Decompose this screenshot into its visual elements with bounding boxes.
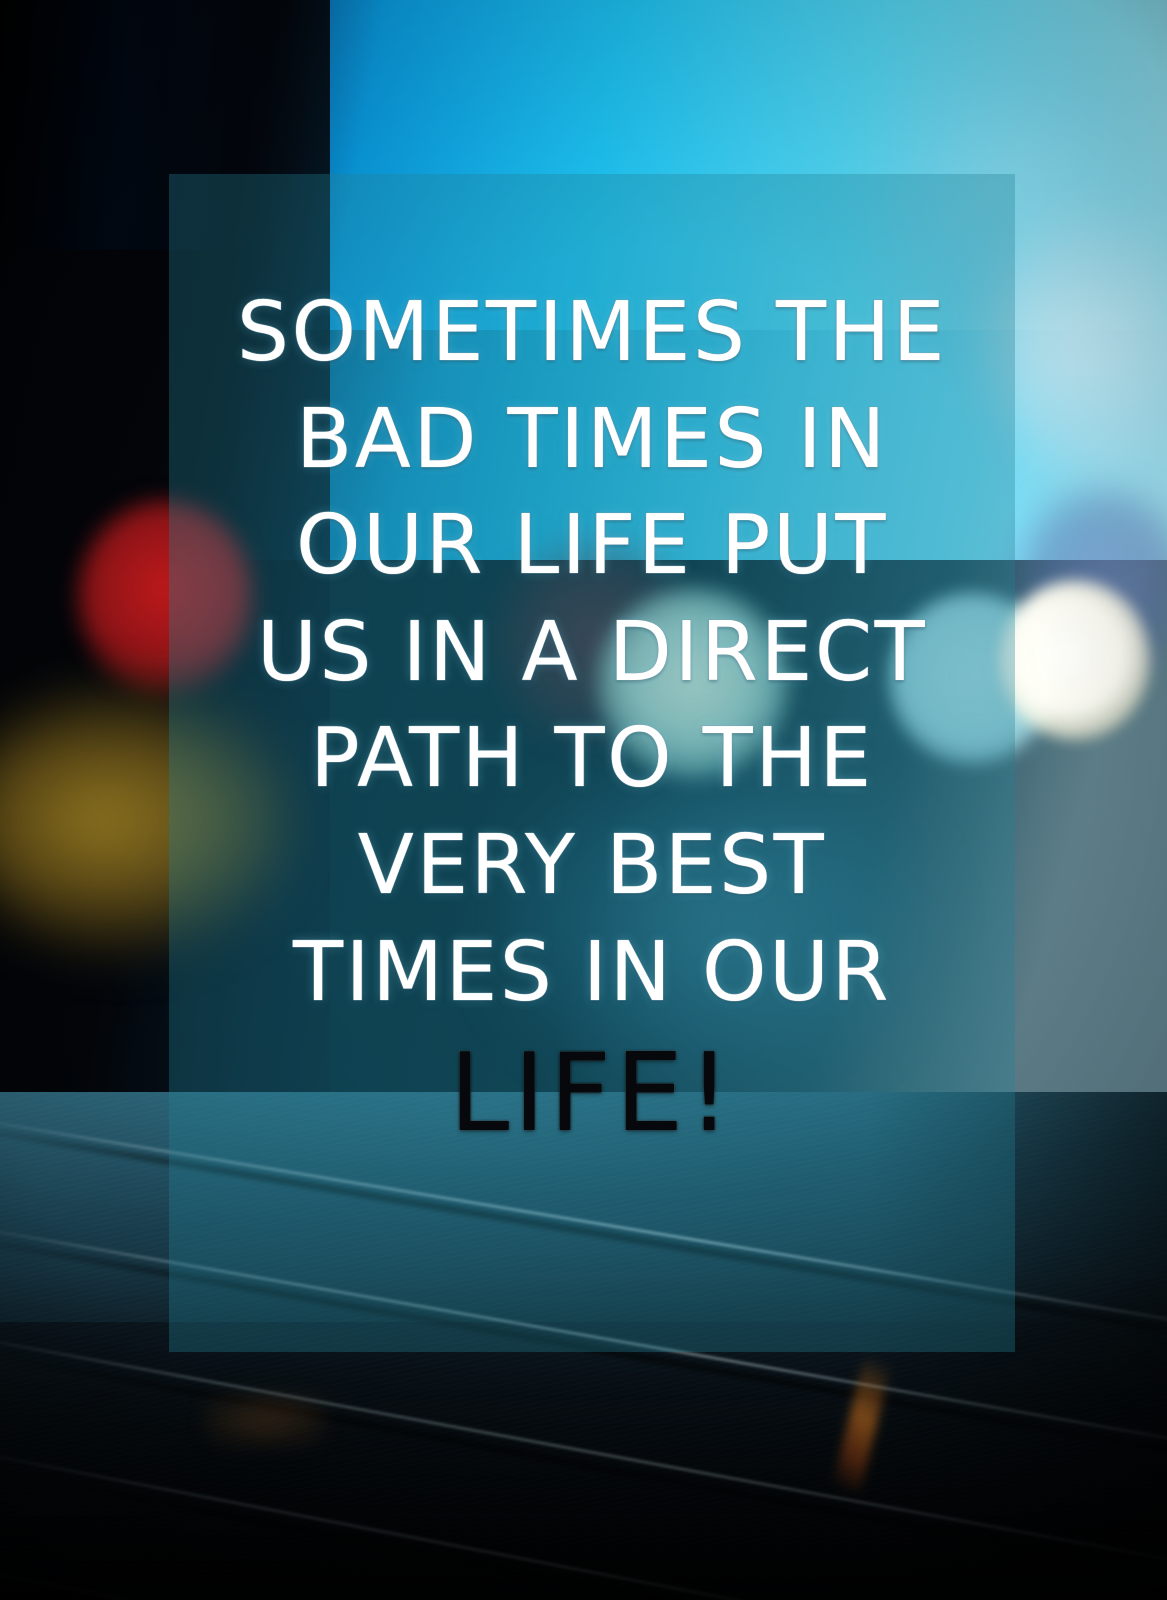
- quote-line-4: us in a direct: [257, 600, 927, 707]
- quote-line-6: very best: [358, 813, 827, 920]
- quote-line-1: Sometimes the: [237, 280, 947, 387]
- quote-line-3: our life put: [296, 493, 888, 600]
- quote-text-block: Sometimes the bad times in our life put …: [169, 174, 1015, 1352]
- quote-finale-word: life!: [449, 1036, 735, 1153]
- bokeh-white-light: [1000, 580, 1150, 740]
- wood-warm-patch: [205, 1395, 325, 1445]
- quote-line-7: times in our: [293, 920, 891, 1027]
- quote-poster: Sometimes the bad times in our life put …: [0, 0, 1167, 1600]
- quote-line-2: bad times in: [296, 387, 888, 494]
- quote-line-5: path to the: [310, 706, 874, 813]
